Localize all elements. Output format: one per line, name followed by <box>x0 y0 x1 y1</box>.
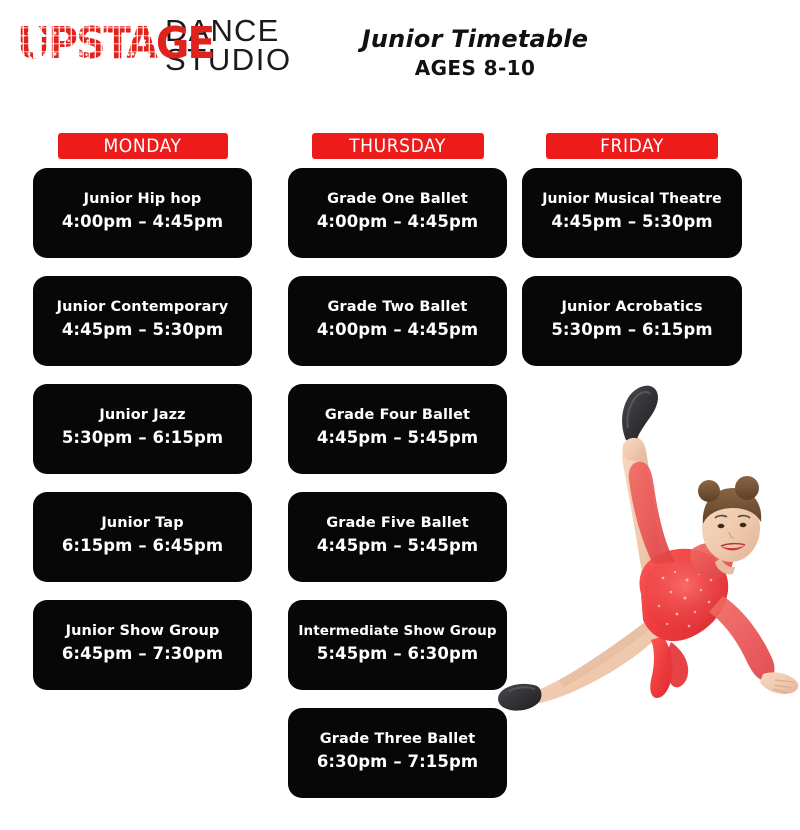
class-time: 4:00pm – 4:45pm <box>33 210 252 233</box>
class-card[interactable]: Junior Show Group6:45pm – 7:30pm <box>33 600 252 690</box>
title-subtitle: AGES 8-10 <box>300 54 650 82</box>
class-card[interactable]: Grade One Ballet4:00pm – 4:45pm <box>288 168 507 258</box>
class-time: 5:30pm – 6:15pm <box>33 426 252 449</box>
class-name: Junior Musical Theatre <box>522 188 742 210</box>
upstage-logo-icon: UPSTAGE <box>17 20 157 68</box>
dancer-bun-left <box>698 480 720 502</box>
class-card[interactable]: Junior Musical Theatre4:45pm – 5:30pm <box>522 168 742 258</box>
class-time: 5:45pm – 6:30pm <box>288 642 507 665</box>
day-header-thursday: THURSDAY <box>312 133 484 159</box>
class-name: Junior Show Group <box>33 620 252 642</box>
dancer-mesh-yoke <box>690 543 733 579</box>
dancer-head <box>702 494 760 562</box>
day-column-thursday: THURSDAYGrade One Ballet4:00pm – 4:45pmG… <box>288 133 507 816</box>
class-time: 6:30pm – 7:15pm <box>288 750 507 773</box>
class-card[interactable]: Grade Two Ballet4:00pm – 4:45pm <box>288 276 507 366</box>
day-header-friday: FRIDAY <box>546 133 718 159</box>
class-time: 6:45pm – 7:30pm <box>33 642 252 665</box>
dancer-sash <box>650 636 672 698</box>
class-card[interactable]: Grade Five Ballet4:45pm – 5:45pm <box>288 492 507 582</box>
day-column-friday: FRIDAYJunior Musical Theatre4:45pm – 5:3… <box>522 133 742 384</box>
dancer-left-sleeve <box>629 462 675 564</box>
class-name: Grade One Ballet <box>288 188 507 210</box>
class-card[interactable]: Junior Acrobatics5:30pm – 6:15pm <box>522 276 742 366</box>
dancer-photo <box>495 368 800 713</box>
class-time: 4:45pm – 5:45pm <box>288 426 507 449</box>
class-card[interactable]: Junior Tap6:15pm – 6:45pm <box>33 492 252 582</box>
class-card[interactable]: Intermediate Show Group5:45pm – 6:30pm <box>288 600 507 690</box>
class-name: Grade Five Ballet <box>288 512 507 534</box>
dancer-upper-hand <box>623 438 645 461</box>
class-name: Grade Two Ballet <box>288 296 507 318</box>
leotard-sparkles <box>658 571 713 627</box>
class-name: Grade Three Ballet <box>288 728 507 750</box>
dancer-face <box>715 516 750 551</box>
class-time: 5:30pm – 6:15pm <box>522 318 742 341</box>
class-card[interactable]: Junior Hip hop4:00pm – 4:45pm <box>33 168 252 258</box>
dancer-raised-shoe-icon <box>622 386 658 442</box>
timetable-poster: UPSTAGE DANCE STUDIO Junior Timetable AG… <box>0 0 800 830</box>
dancer-support-leg <box>533 622 661 704</box>
class-name: Junior Hip hop <box>33 188 252 210</box>
class-card[interactable]: Grade Three Ballet6:30pm – 7:15pm <box>288 708 507 798</box>
day-header-monday: MONDAY <box>58 133 228 159</box>
dancer-raised-leg <box>622 437 667 606</box>
page-title: Junior Timetable AGES 8-10 <box>300 24 650 82</box>
class-time: 6:15pm – 6:45pm <box>33 534 252 557</box>
class-name: Junior Acrobatics <box>522 296 742 318</box>
class-name: Junior Tap <box>33 512 252 534</box>
day-column-monday: MONDAYJunior Hip hop4:00pm – 4:45pmJunio… <box>33 133 252 708</box>
brand-lockup: UPSTAGE DANCE STUDIO <box>17 18 292 74</box>
poster-header: UPSTAGE DANCE STUDIO Junior Timetable AG… <box>0 0 800 110</box>
class-card[interactable]: Junior Jazz5:30pm – 6:15pm <box>33 384 252 474</box>
class-name: Grade Four Ballet <box>288 404 507 426</box>
dancer-hair <box>703 488 761 524</box>
title-main: Junior Timetable <box>300 24 650 54</box>
class-time: 4:45pm – 5:30pm <box>522 210 742 233</box>
dancer-bun-right <box>735 476 759 500</box>
class-card[interactable]: Grade Four Ballet4:45pm – 5:45pm <box>288 384 507 474</box>
dancer-leotard <box>640 549 729 641</box>
dancer-right-sleeve <box>709 596 774 680</box>
class-time: 4:45pm – 5:30pm <box>33 318 252 341</box>
class-time: 4:00pm – 4:45pm <box>288 318 507 341</box>
class-time: 4:00pm – 4:45pm <box>288 210 507 233</box>
class-name: Junior Jazz <box>33 404 252 426</box>
class-card[interactable]: Junior Contemporary4:45pm – 5:30pm <box>33 276 252 366</box>
dancer-floor-hand <box>760 672 798 694</box>
class-name: Intermediate Show Group <box>288 620 507 642</box>
class-time: 4:45pm – 5:45pm <box>288 534 507 557</box>
class-name: Junior Contemporary <box>33 296 252 318</box>
up-arrow-stem-icon <box>33 36 41 58</box>
